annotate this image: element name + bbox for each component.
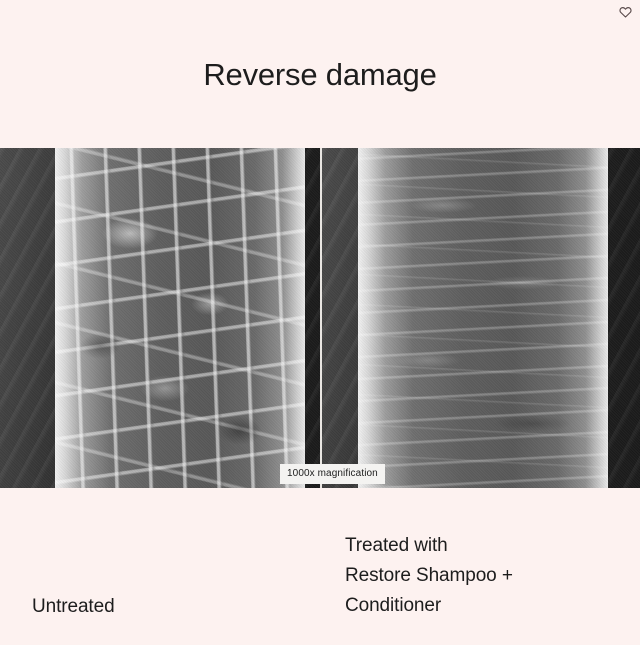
- caption-untreated: Untreated: [32, 592, 115, 622]
- hair-comparison-figure: 1000x magnification: [0, 148, 640, 488]
- treated-hair-micrograph: [322, 148, 640, 488]
- caption-treated-line-1: Treated with: [345, 531, 513, 561]
- heart-outline-icon: [619, 6, 632, 18]
- panel-divider: [320, 148, 322, 488]
- caption-treated-line-2: Restore Shampoo +: [345, 561, 513, 591]
- caption-treated-line-3: Conditioner: [345, 591, 513, 621]
- favorite-button[interactable]: [614, 2, 636, 22]
- treated-hair-shaft: [358, 148, 608, 488]
- product-comparison-page: Reverse damage 1000x magnification: [0, 0, 640, 645]
- magnification-badge: 1000x magnification: [280, 464, 385, 484]
- damaged-cuticle-highlights: [55, 148, 305, 488]
- treated-cuticle-highlights: [358, 148, 608, 488]
- untreated-hair-shaft: [55, 148, 305, 488]
- caption-treated: Treated with Restore Shampoo + Condition…: [345, 531, 513, 621]
- page-title: Reverse damage: [0, 56, 640, 94]
- untreated-hair-micrograph: [0, 148, 320, 488]
